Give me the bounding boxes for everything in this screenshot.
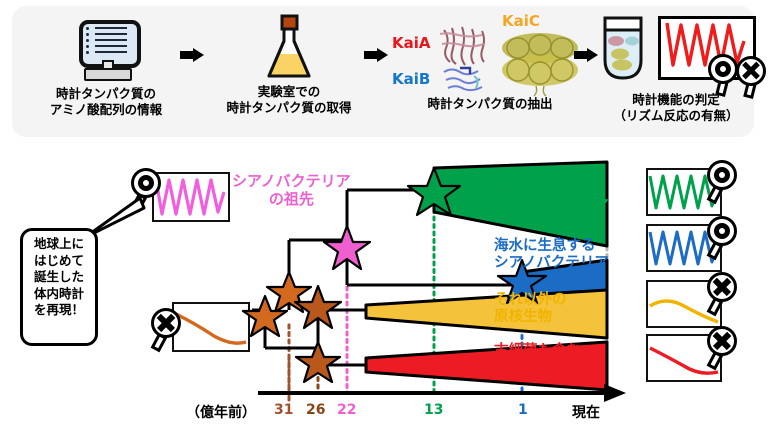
axis-tick-13: 13 [424,402,443,418]
arrow-3-icon [574,48,599,62]
axis-tick-22: 22 [337,402,356,418]
rhythm-ok-magnifier-marine-icon [704,216,744,264]
test-tube-icon [600,16,646,82]
workflow-step-caption: 時計タンパク質の アミノ酸配列の情報 [26,86,186,117]
workflow-step-sequence: 時計タンパク質の アミノ酸配列の情報 [26,18,186,117]
workflow-step-purification: 実験室での 時計タンパク質の取得 [208,14,370,115]
computer-monitor-icon [75,18,137,80]
clade-label-freshwater: 淡水に生息する シアノバクテリア [494,181,609,216]
clade-label-other-prokaryotes: それ以外の 原核生物 [494,292,567,327]
workflow-step-assay: 時計機能の判定 （リズム反応の有無） [600,14,752,123]
erlenmeyer-flask-icon [262,14,316,80]
kaib-label: KaiB [392,70,430,88]
kaia-label: KaiA [392,34,431,52]
rhythm-ng-magnifier-other-icon [704,272,744,320]
workflow-step-caption: 時計タンパク質の抽出 [392,96,588,112]
axis-tick-1: 1 [518,402,528,418]
clade-label-marine: 海水に生息する シアノバクテリア [494,238,609,273]
axis-unit-label: （億年前） [186,402,256,422]
clade-label-archaea: 古細菌も含む [494,343,581,360]
kaia-structure-icon [436,24,494,68]
workflow-step-extraction: KaiA KaiB KaiC [392,12,588,112]
workflow-panel: 時計タンパク質の アミノ酸配列の情報 実験室での 時計タンパク質の取得 KaiA… [12,6,754,137]
kaic-structure-icon [498,30,582,96]
axis-present-label: 現在 [572,402,600,422]
kaic-label: KaiC [502,12,540,30]
rhythm-ng-magnifier-archaea-icon [704,326,744,374]
axis-tick-26: 26 [306,402,325,418]
clade-triangle-other-prokaryotes [366,290,607,338]
rhythm-ok-magnifier-freshwater-icon [704,160,744,208]
kaib-structure-icon [440,64,488,94]
axis-arrow-head [604,384,626,402]
workflow-step-caption: 実験室での 時計タンパク質の取得 [208,84,370,115]
axis-tick-31: 31 [274,402,293,418]
workflow-step-caption: 時計機能の判定 （リズム反応の有無） [600,92,752,123]
protein-structures-icon: KaiA KaiB KaiC [392,12,582,94]
arrow-2-icon [364,48,389,62]
arrow-1-icon [180,48,205,62]
